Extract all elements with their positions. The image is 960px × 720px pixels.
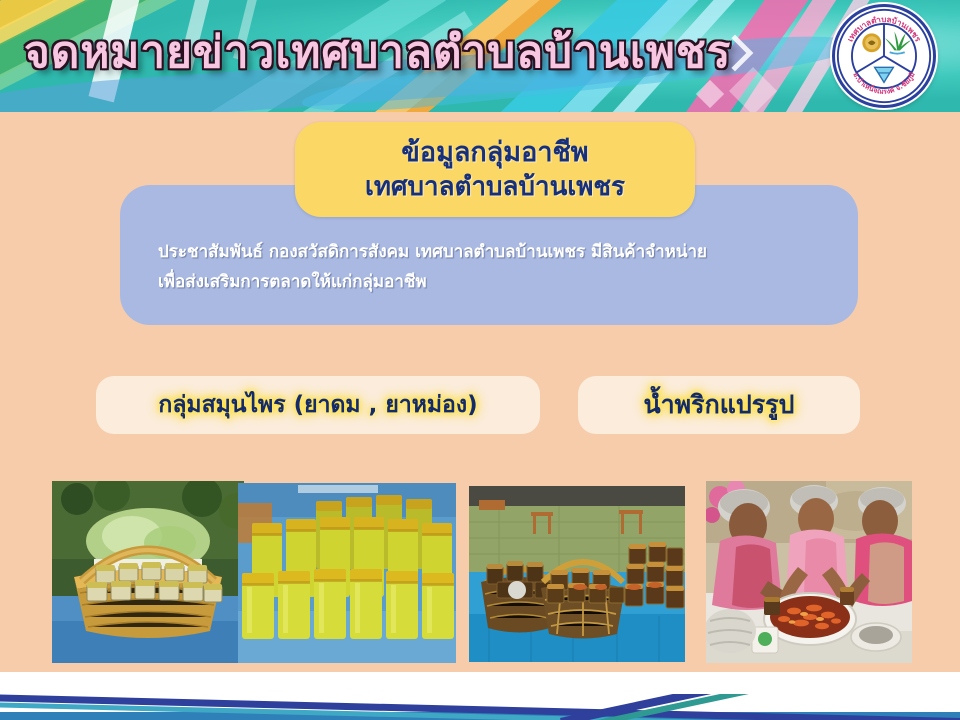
photo-women-packing-chilipaste xyxy=(706,481,912,663)
photo-yellow-inhaler-bottles xyxy=(238,483,456,663)
photo-chilipaste-baskets xyxy=(469,486,685,662)
announcement-line-1: ประชาสัมพันธ์ กองสวัสดิการสังคม เทศบาลตำ… xyxy=(158,237,858,267)
photo-herbal-basket-jars xyxy=(52,481,244,663)
header-banner: จดหมายข่าวเทศบาลตำบลบ้านเพชร xyxy=(0,0,960,112)
category-label-herbal: กลุ่มสมุนไพร (ยาดม , ยาหม่อง) xyxy=(158,387,477,423)
page-title: จดหมายข่าวเทศบาลตำบลบ้านเพชร xyxy=(24,16,724,88)
category-card-herbal: กลุ่มสมุนไพร (ยาดม , ยาหม่อง) xyxy=(96,376,540,434)
heading-line-2: เทศบาลตำบลบ้านเพชร xyxy=(365,170,625,204)
category-card-chilipaste: น้ำพริกแปรรูป xyxy=(578,376,860,434)
footer-ribbon xyxy=(0,672,960,720)
heading-line-1: ข้อมูลกลุ่มอาชีพ xyxy=(401,136,588,170)
announcement-line-2: เพื่อส่งเสริมการตลาดให้แก่กลุ่มอาชีพ xyxy=(158,267,858,297)
footer-white-area xyxy=(0,672,960,694)
category-label-chilipaste: น้ำพริกแปรรูป xyxy=(644,385,795,425)
heading-card: ข้อมูลกลุ่มอาชีพ เทศบาลตำบลบ้านเพชร xyxy=(295,122,695,217)
municipality-seal-icon: เทศบาลตำบลบ้านเพชร อ.บำเหน็จณรงค์ จ.ชัยภ… xyxy=(832,4,936,108)
